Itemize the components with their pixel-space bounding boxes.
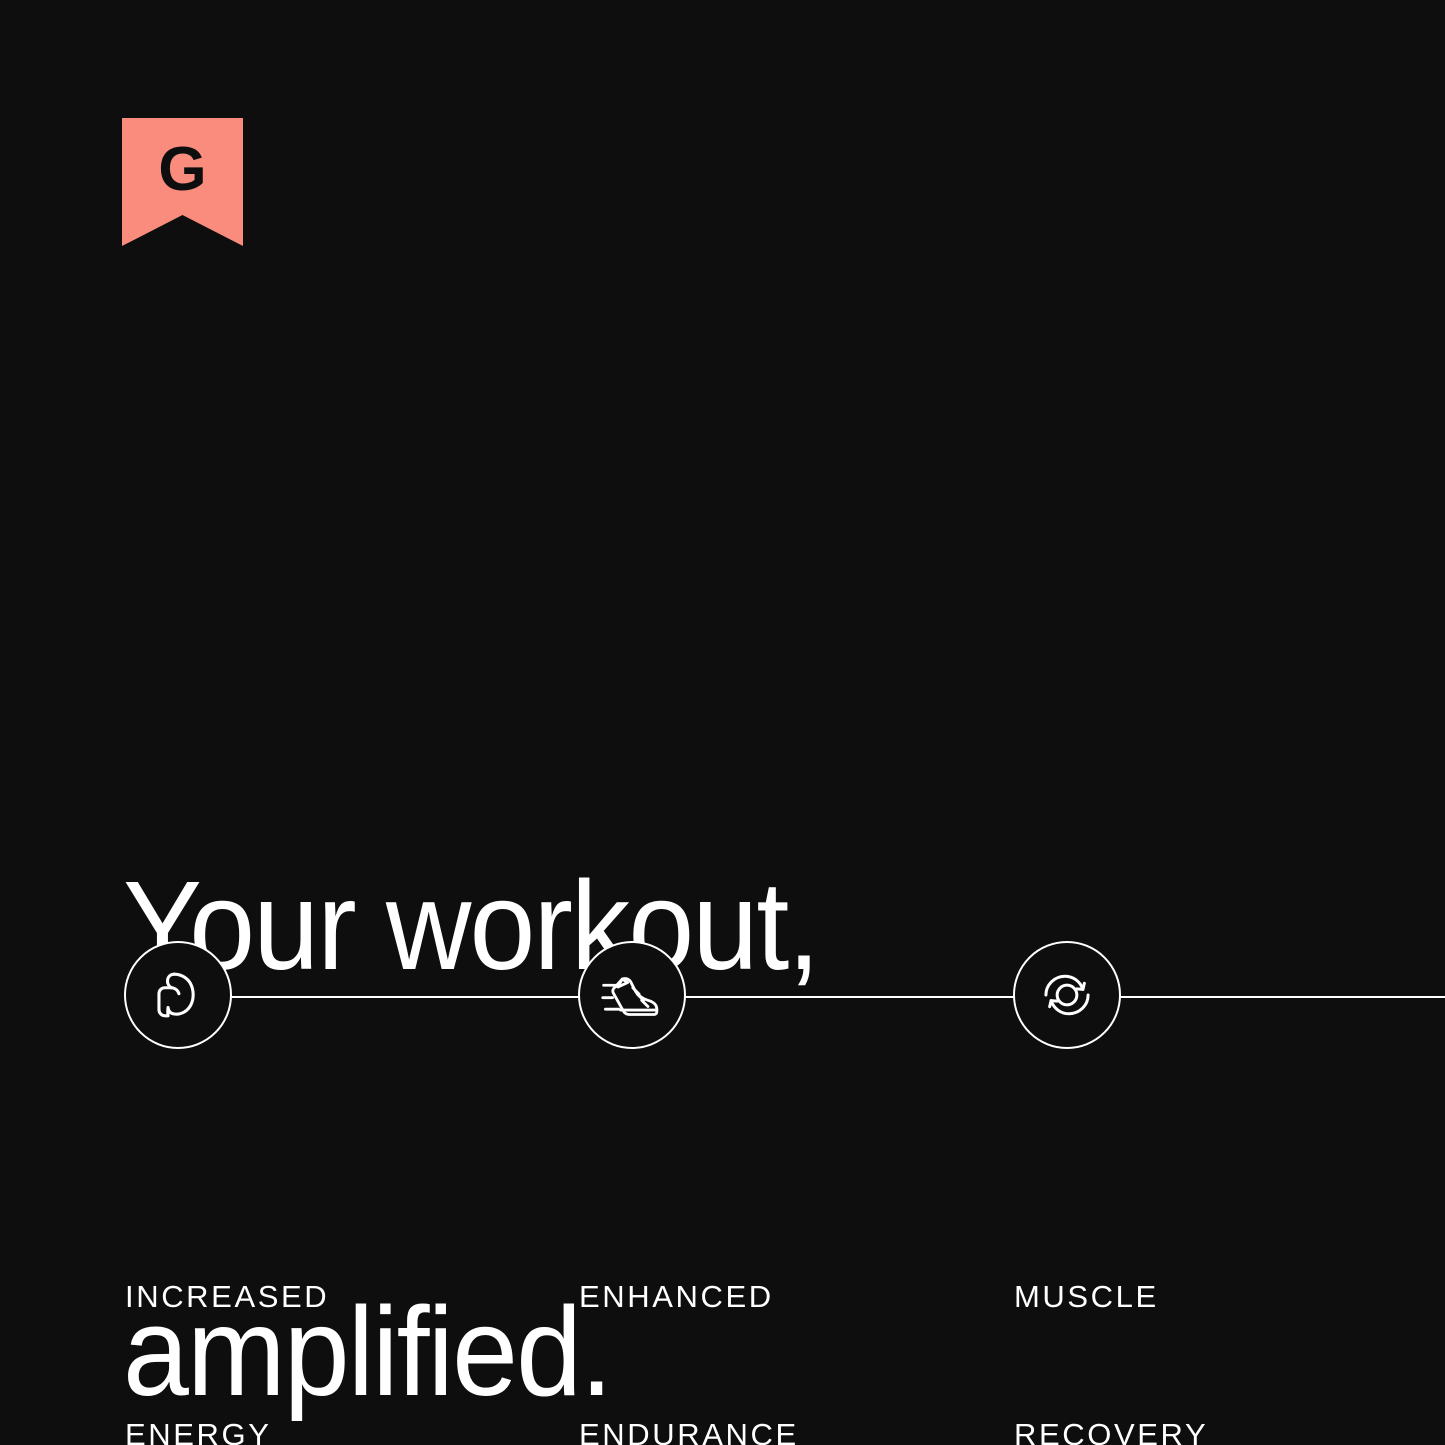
flexed-bicep-icon xyxy=(149,966,207,1024)
benefit-label-line-2: ENERGY xyxy=(125,1412,329,1445)
running-shoe-icon xyxy=(601,964,663,1026)
benefit-icon-circle[interactable] xyxy=(578,941,686,1049)
benefit-label-muscle-recovery: MUSCLE RECOVERY xyxy=(1014,1182,1208,1445)
benefit-label-line-2: RECOVERY xyxy=(1014,1412,1208,1445)
benefit-label-line-1: ENHANCED xyxy=(579,1274,799,1320)
benefit-label-line-1: MUSCLE xyxy=(1014,1274,1208,1320)
benefit-item-increased-energy[interactable]: INCREASED ENERGY xyxy=(124,941,232,1049)
brand-logo[interactable]: G xyxy=(122,118,243,246)
recovery-refresh-icon xyxy=(1037,965,1097,1025)
promo-poster: G Your workout, amplified. INCREASED ENE… xyxy=(0,0,1445,1445)
benefit-item-enhanced-endurance[interactable]: ENHANCED ENDURANCE xyxy=(578,941,686,1049)
benefit-label-increased-energy: INCREASED ENERGY xyxy=(125,1182,329,1445)
benefit-icon-circle[interactable] xyxy=(124,941,232,1049)
benefit-label-enhanced-endurance: ENHANCED ENDURANCE xyxy=(579,1182,799,1445)
benefit-label-line-2: ENDURANCE xyxy=(579,1412,799,1445)
benefit-icon-circle[interactable] xyxy=(1013,941,1121,1049)
benefit-label-line-1: INCREASED xyxy=(125,1274,329,1320)
benefit-item-muscle-recovery[interactable]: MUSCLE RECOVERY xyxy=(1013,941,1121,1049)
brand-logo-letter: G xyxy=(122,118,243,221)
